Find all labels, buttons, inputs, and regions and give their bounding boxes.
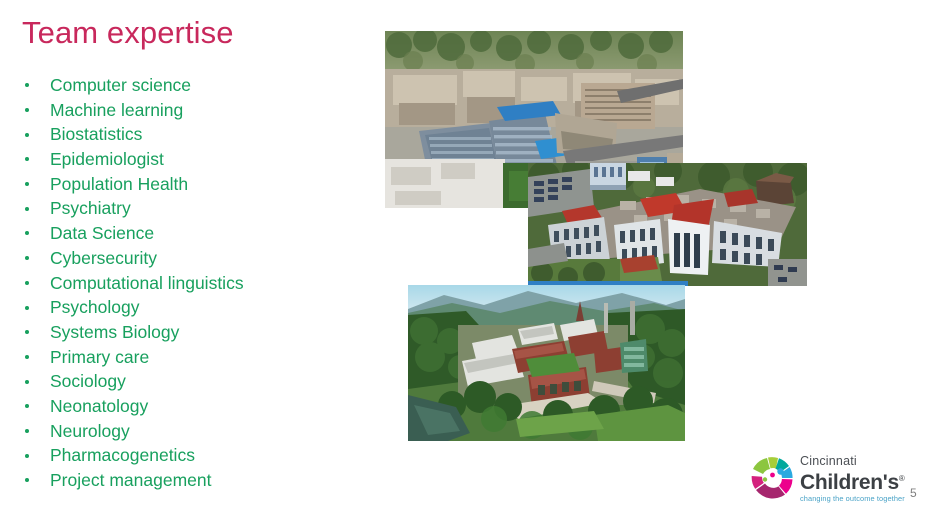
logo-mark-icon <box>748 454 796 502</box>
list-item-label: Neonatology <box>50 396 148 416</box>
list-item-label: Neurology <box>50 421 130 441</box>
list-item-label: Project management <box>50 470 211 490</box>
list-item-label: Primary care <box>50 347 149 367</box>
list-item: Systems Biology <box>22 320 352 345</box>
list-item-label: Systems Biology <box>50 322 179 342</box>
registered-trademark-icon: ® <box>899 474 905 483</box>
logo-childrens-text: Children's <box>800 471 899 494</box>
bullet-icon <box>25 182 29 186</box>
list-item-label: Cybersecurity <box>50 248 157 268</box>
list-item: Sociology <box>22 369 352 394</box>
list-item: Neonatology <box>22 394 352 419</box>
list-item: Machine learning <box>22 98 352 123</box>
list-item: Psychiatry <box>22 196 352 221</box>
bullet-icon <box>25 256 29 260</box>
list-item-label: Population Health <box>50 174 188 194</box>
list-item: Population Health <box>22 172 352 197</box>
list-item-label: Computer science <box>50 75 191 95</box>
list-item: Biostatistics <box>22 122 352 147</box>
bullet-icon <box>25 454 29 458</box>
list-item: Primary care <box>22 345 352 370</box>
list-item-label: Machine learning <box>50 100 183 120</box>
list-item: Epidemiologist <box>22 147 352 172</box>
list-item: Project management <box>22 468 352 493</box>
list-item: Pharmacogenetics <box>22 443 352 468</box>
photo-valley-campus <box>408 285 685 441</box>
bullet-icon <box>25 429 29 433</box>
bullet-icon <box>25 231 29 235</box>
bullet-icon <box>25 478 29 482</box>
list-item: Data Science <box>22 221 352 246</box>
bullet-icon <box>25 281 29 285</box>
list-item: Cybersecurity <box>22 246 352 271</box>
bullet-icon <box>25 108 29 112</box>
logo-line-childrens: Children's® <box>800 468 898 494</box>
bullet-icon <box>25 133 29 137</box>
list-item: Neurology <box>22 419 352 444</box>
list-item-label: Pharmacogenetics <box>50 445 195 465</box>
bullet-icon <box>25 157 29 161</box>
list-item-label: Psychiatry <box>50 198 131 218</box>
logo-tagline: changing the outcome together <box>800 494 898 504</box>
bullet-icon <box>25 380 29 384</box>
slide-number: 5 <box>910 486 917 500</box>
list-item-label: Biostatistics <box>50 124 142 144</box>
photo-campus-building <box>528 163 807 286</box>
list-item-label: Data Science <box>50 223 154 243</box>
list-item: Computer science <box>22 73 352 98</box>
slide-canvas: Team expertise Computer science Machine … <box>0 0 936 515</box>
expertise-list: Computer science Machine learning Biosta… <box>22 73 352 493</box>
list-item-label: Computational linguistics <box>50 273 244 293</box>
list-item-label: Psychology <box>50 297 140 317</box>
bullet-icon <box>25 83 29 87</box>
bullet-icon <box>25 355 29 359</box>
logo-cincinnati-childrens: Cincinnati Children's® changing the outc… <box>748 452 896 504</box>
list-item-label: Sociology <box>50 371 126 391</box>
page-title: Team expertise <box>22 14 234 51</box>
bullet-icon <box>25 306 29 310</box>
list-item: Psychology <box>22 295 352 320</box>
logo-line-cincinnati: Cincinnati <box>800 454 898 468</box>
list-item-label: Epidemiologist <box>50 149 164 169</box>
list-item: Computational linguistics <box>22 271 352 296</box>
logo-wordmark: Cincinnati Children's® changing the outc… <box>800 454 898 504</box>
bullet-icon <box>25 404 29 408</box>
bullet-icon <box>25 207 29 211</box>
bullet-icon <box>25 330 29 334</box>
